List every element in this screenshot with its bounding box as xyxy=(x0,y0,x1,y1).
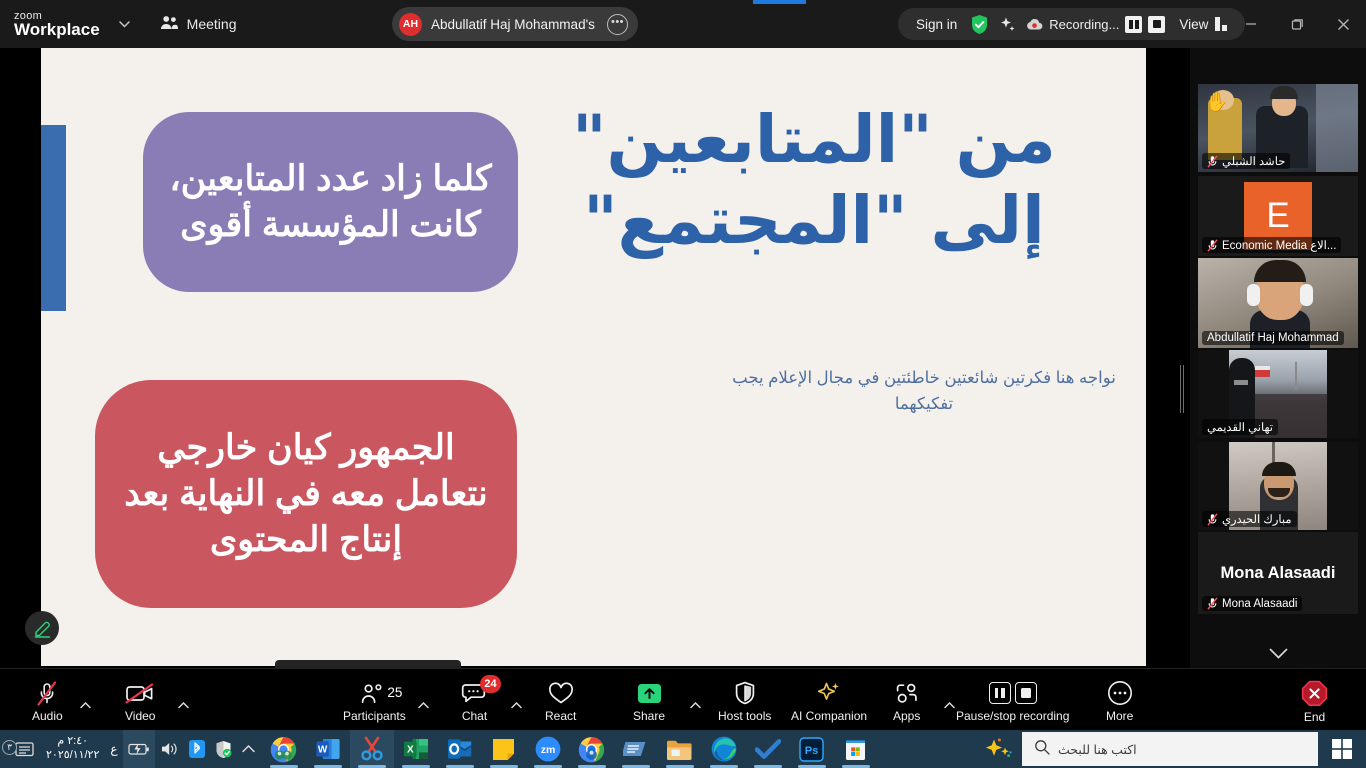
annotate-button[interactable] xyxy=(25,611,59,645)
participant-name: Economic Media الاع... xyxy=(1222,238,1336,252)
chevron-up-icon[interactable] xyxy=(237,730,260,768)
sign-in-button[interactable]: Sign in xyxy=(908,17,965,32)
pause-icon[interactable] xyxy=(1125,16,1142,33)
ai-companion-label: AI Companion xyxy=(791,710,867,722)
microphone-muted-icon xyxy=(1207,597,1218,610)
chevron-up-icon xyxy=(511,702,522,709)
taskbar-app-adobe-photoshop[interactable]: Ps xyxy=(790,730,834,768)
taskbar-app-microsoft-word[interactable]: W xyxy=(306,730,350,768)
notification-count: ٣ xyxy=(2,740,17,755)
participant-display-name: Mona Alasaadi xyxy=(1221,564,1336,583)
view-button[interactable]: View xyxy=(1165,17,1235,32)
windows-start-icon xyxy=(1331,738,1353,760)
participant-tile-active[interactable]: تهاني القديمي xyxy=(1198,350,1358,438)
audio-label: Audio xyxy=(32,710,63,722)
volume-icon[interactable] xyxy=(155,730,184,768)
system-tray: ٣ ٢:٤٠ م ٢٠٢٥/١١/٢٢ ع xyxy=(0,730,260,768)
meeting-tab-label: Meeting xyxy=(187,16,237,32)
taskbar-app-mail[interactable] xyxy=(614,730,658,768)
taskbar-apps: W X xyxy=(262,730,878,768)
slide-card-red: الجمهور كيان خارجي نتعامل معه في النهاية… xyxy=(95,380,517,608)
more-button[interactable]: More xyxy=(1100,673,1139,729)
microphone-muted-icon xyxy=(1207,239,1218,252)
stop-icon[interactable] xyxy=(1148,16,1165,33)
svg-text:Ps: Ps xyxy=(805,745,818,757)
video-button[interactable]: Video xyxy=(119,673,161,729)
restore-icon[interactable] xyxy=(1274,0,1320,48)
avatar: AH xyxy=(399,13,422,36)
apps-button[interactable]: Apps xyxy=(887,673,926,729)
taskbar-app-google-chrome[interactable] xyxy=(570,730,614,768)
svg-text:zm: zm xyxy=(540,744,555,756)
participant-name: حاشد الشبلي xyxy=(1222,154,1285,168)
chat-button[interactable]: 24 Chat xyxy=(455,673,494,729)
apps-icon xyxy=(894,680,920,706)
slide-title: من "المتابعين" إلى "المجتمع" xyxy=(504,100,1124,261)
taskbar-app-file-explorer[interactable] xyxy=(658,730,702,768)
people-icon xyxy=(160,15,179,33)
clock-time: ٢:٤٠ م xyxy=(46,735,99,749)
chevron-up-icon xyxy=(690,702,701,709)
participant-tile[interactable]: مبارك الحيدري xyxy=(1198,442,1358,530)
participants-label: Participants xyxy=(343,710,406,722)
video-label: Video xyxy=(125,710,155,722)
ai-companion-sparkle-icon xyxy=(816,680,842,706)
participant-name: مبارك الحيدري xyxy=(1222,512,1292,526)
zoom-logo-workplace: Workplace xyxy=(14,21,100,38)
battery-charging-icon[interactable] xyxy=(123,730,155,768)
microphone-muted-icon xyxy=(36,680,58,706)
participant-tile[interactable]: Abdullatif Haj Mohammad xyxy=(1198,258,1358,348)
audio-options-caret[interactable] xyxy=(74,677,97,733)
pause-stop-recording-icon xyxy=(989,680,1037,706)
card-purple-text: كلما زاد عدد المتابعين، كانت المؤسسة أقو… xyxy=(165,156,496,248)
filmstrip-scroll-down-button[interactable] xyxy=(1190,638,1366,668)
taskbar-app-zoom[interactable]: zm xyxy=(526,730,570,768)
taskbar-app-microsoft-edge[interactable] xyxy=(702,730,746,768)
chat-options-caret[interactable] xyxy=(505,677,528,733)
language-indicator[interactable]: ع xyxy=(105,730,122,768)
chat-icon: 24 xyxy=(461,680,488,706)
microphone-muted-icon xyxy=(1207,155,1218,168)
search-icon xyxy=(1034,739,1050,760)
taskbar-app-sticky-notes[interactable] xyxy=(482,730,526,768)
participant-name-bar: مبارك الحيدري xyxy=(1202,511,1297,527)
slide-subtitle: نواجه هنا فكرتين شائعتين خاطئتين في مجال… xyxy=(724,366,1124,417)
slide-accent-bar xyxy=(41,125,66,311)
filmstrip-drag-handle[interactable] xyxy=(1180,365,1184,413)
meeting-tab[interactable]: Meeting xyxy=(152,10,245,38)
chevron-down-icon xyxy=(1269,648,1288,659)
share-title-label: Abdullatif Haj Mohammad's scre xyxy=(431,17,598,32)
taskbar-search-box[interactable]: اكتب هنا للبحث xyxy=(1022,732,1318,766)
host-tools-label: Host tools xyxy=(718,710,771,722)
more-options-icon[interactable]: ••• xyxy=(607,14,628,35)
participant-name: تهاني القديمي xyxy=(1207,420,1273,434)
copilot-icon[interactable] xyxy=(978,730,1022,768)
more-ellipsis-icon xyxy=(1107,680,1133,706)
participants-icon: 25 xyxy=(361,680,387,706)
participant-name-bar: Abdullatif Haj Mohammad xyxy=(1202,331,1344,345)
close-icon[interactable] xyxy=(1320,0,1366,48)
notification-icon[interactable]: ٣ xyxy=(0,730,40,768)
window-controls xyxy=(1228,0,1366,48)
recording-label: Recording... xyxy=(1049,17,1119,32)
shared-screen-stage: كلما زاد عدد المتابعين، كانت المؤسسة أقو… xyxy=(0,48,1190,668)
chevron-up-icon xyxy=(418,702,429,709)
host-tools-button[interactable]: Host tools xyxy=(712,673,777,729)
shield-check-icon[interactable] xyxy=(970,14,989,35)
svg-text:W: W xyxy=(317,745,327,756)
layout-view-icon xyxy=(1215,17,1227,31)
zoom-meeting-window: zoom Workplace Meeting AH Abdullatif Haj… xyxy=(0,0,1366,768)
heart-react-icon xyxy=(548,680,574,706)
microphone-muted-icon xyxy=(1207,513,1218,526)
recording-status: Recording... xyxy=(1020,16,1165,33)
raised-hand-icon: ✋ xyxy=(1205,90,1229,114)
participant-name-bar: Economic Media الاع... xyxy=(1202,237,1341,253)
share-button[interactable]: Share xyxy=(627,673,671,729)
svg-text:X: X xyxy=(407,744,414,755)
participant-name-bar: حاشد الشبلي xyxy=(1202,153,1290,169)
share-screen-icon xyxy=(637,680,662,706)
end-call-icon xyxy=(1301,680,1328,707)
search-placeholder: اكتب هنا للبحث xyxy=(1058,742,1137,757)
screen-share-title-pill[interactable]: AH Abdullatif Haj Mohammad's scre ••• xyxy=(392,7,638,41)
participant-name: Mona Alasaadi xyxy=(1222,598,1297,610)
participant-name: Abdullatif Haj Mohammad xyxy=(1207,332,1339,344)
taskbar-app-microsoft-store[interactable] xyxy=(834,730,878,768)
slide-card-purple: كلما زاد عدد المتابعين، كانت المؤسسة أقو… xyxy=(143,112,518,292)
chevron-up-icon xyxy=(178,702,189,709)
meeting-toolbar: Audio Video xyxy=(0,668,1366,730)
participants-options-caret[interactable] xyxy=(412,677,435,733)
taskbar-app-google-chrome-profile[interactable] xyxy=(262,730,306,768)
pause-stop-recording-label: Pause/stop recording xyxy=(956,710,1069,722)
ai-sparkle-icon[interactable] xyxy=(997,16,1017,33)
windows-taskbar: ٣ ٢:٤٠ م ٢٠٢٥/١١/٢٢ ع xyxy=(0,730,1366,768)
chevron-up-icon xyxy=(80,702,91,709)
participant-tile[interactable]: ✋ حاشد الشبلي xyxy=(1198,84,1358,172)
taskbar-app-microsoft-outlook[interactable] xyxy=(438,730,482,768)
view-label: View xyxy=(1179,17,1208,32)
taskbar-app-microsoft-excel[interactable]: X xyxy=(394,730,438,768)
presentation-slide: كلما زاد عدد المتابعين، كانت المؤسسة أقو… xyxy=(41,48,1146,666)
cloud-recording-icon xyxy=(1026,18,1043,31)
bluetooth-icon[interactable] xyxy=(184,730,210,768)
participants-button[interactable]: 25 Participants xyxy=(337,673,412,729)
camera-muted-icon xyxy=(125,680,155,706)
minimize-icon[interactable] xyxy=(1228,0,1274,48)
screen-share-indicator-line xyxy=(753,0,806,4)
participant-tile[interactable]: E Economic Media الاع... xyxy=(1198,176,1358,256)
participants-filmstrip[interactable]: ✋ حاشد الشبلي E Economi xyxy=(1190,48,1366,668)
clock-date: ٢٠٢٥/١١/٢٢ xyxy=(46,749,99,763)
share-label: Share xyxy=(633,710,665,722)
ai-companion-button[interactable]: AI Companion xyxy=(785,673,873,729)
audio-button[interactable]: Audio xyxy=(26,673,69,729)
chat-unread-badge: 24 xyxy=(480,675,501,693)
share-options-caret[interactable] xyxy=(684,677,707,733)
titlebar-right-group: Sign in Rec xyxy=(898,8,1245,40)
pencil-annotate-icon xyxy=(33,619,52,638)
more-label: More xyxy=(1106,710,1133,722)
taskbar-app-snipping-tool[interactable] xyxy=(350,730,394,768)
react-button[interactable]: React xyxy=(539,673,582,729)
shield-host-tools-icon xyxy=(734,680,756,706)
participant-name-bar: تهاني القديمي xyxy=(1202,419,1278,435)
title-bar: zoom Workplace Meeting AH Abdullatif Haj… xyxy=(0,0,1366,48)
zoom-logo: zoom Workplace xyxy=(14,11,100,38)
participant-name-bar: Mona Alasaadi xyxy=(1202,596,1302,611)
end-label: End xyxy=(1304,711,1325,723)
video-options-caret[interactable] xyxy=(172,677,195,733)
participant-tile[interactable]: Mona Alasaadi Mona Alasaadi xyxy=(1198,532,1358,614)
pause-stop-recording-button[interactable]: Pause/stop recording xyxy=(950,673,1075,729)
windows-start-button[interactable] xyxy=(1318,730,1366,768)
windows-defender-icon[interactable] xyxy=(210,730,237,768)
chat-label: Chat xyxy=(462,710,487,722)
participants-count: 25 xyxy=(387,685,402,700)
taskbar-app-microsoft-todo[interactable] xyxy=(746,730,790,768)
taskbar-clock[interactable]: ٢:٤٠ م ٢٠٢٥/١١/٢٢ xyxy=(40,735,105,763)
chevron-down-icon[interactable] xyxy=(114,11,136,37)
apps-label: Apps xyxy=(893,710,920,722)
end-button[interactable]: End xyxy=(1295,673,1334,729)
card-red-text: الجمهور كيان خارجي نتعامل معه في النهاية… xyxy=(117,425,495,564)
react-label: React xyxy=(545,710,576,722)
